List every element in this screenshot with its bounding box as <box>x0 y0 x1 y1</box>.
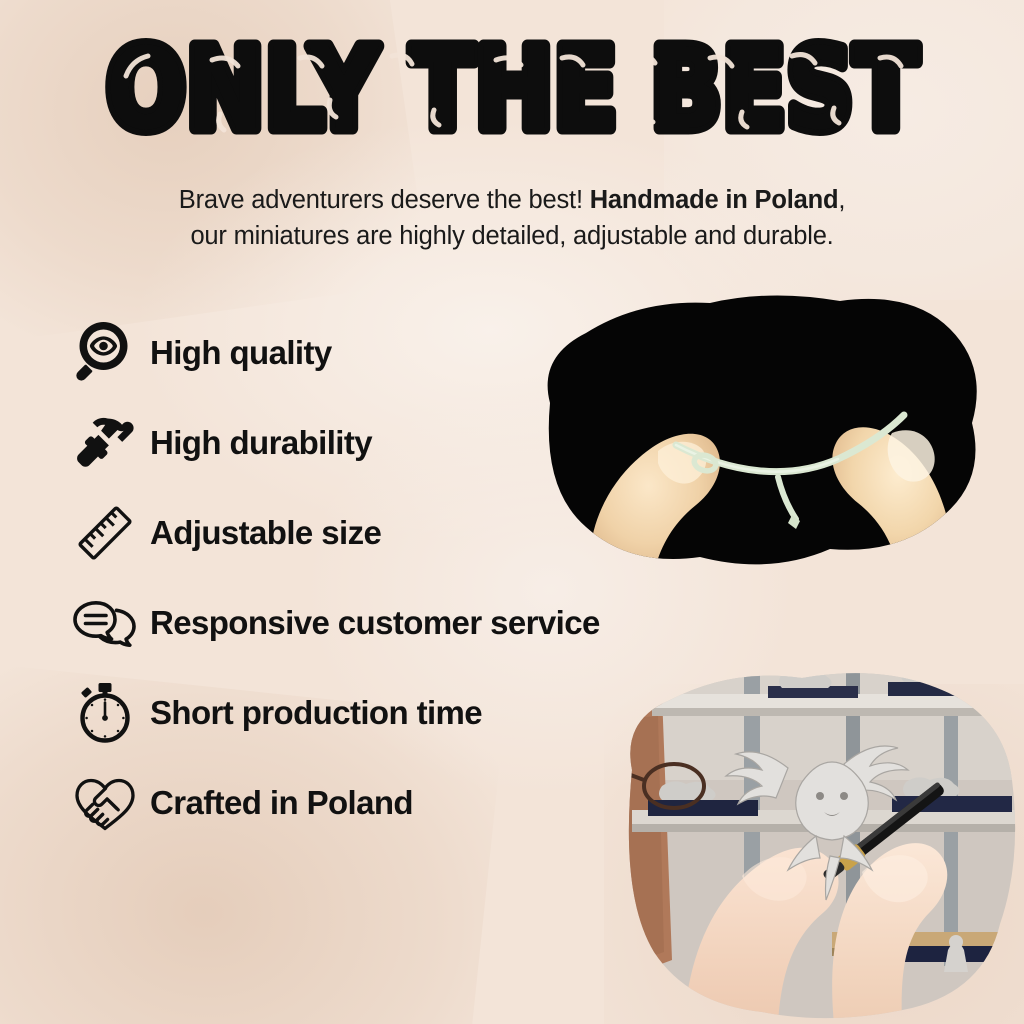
stopwatch-icon <box>62 670 148 756</box>
feature-label: Crafted in Poland <box>150 784 413 822</box>
subtitle-line-1-suffix: , <box>838 186 845 214</box>
feature-label: High quality <box>150 334 332 372</box>
feature-label: Short production time <box>150 694 482 732</box>
speech-bubbles-icon <box>62 580 148 666</box>
subtitle-line-1-prefix: Brave adventurers deserve the best! <box>179 186 590 214</box>
feature-label: High durability <box>150 424 372 462</box>
subtitle-line-2: our miniatures are highly detailed, adju… <box>62 218 962 254</box>
subtitle-line-1: Brave adventurers deserve the best! Hand… <box>62 182 962 218</box>
magnifier-eye-icon <box>62 310 148 396</box>
handshake-heart-icon <box>62 760 148 846</box>
hammer-icon <box>62 400 148 486</box>
promo-graphic: .bub { font-family: "DejaVu Sans", sans-… <box>0 0 1024 1024</box>
durability-photo <box>520 283 1000 588</box>
page-title: .bub { font-family: "DejaVu Sans", sans-… <box>0 36 1024 148</box>
durability-photo-content <box>520 283 1000 588</box>
feature-label: Responsive customer service <box>150 604 600 642</box>
ruler-icon <box>62 490 148 576</box>
workshop-photo-content <box>592 660 1024 1024</box>
workshop-photo <box>592 660 1024 1024</box>
subtitle: Brave adventurers deserve the best! Hand… <box>62 182 962 254</box>
feature-item-customer-service: Responsive customer service <box>62 578 762 668</box>
subtitle-highlight: Handmade in Poland <box>590 186 839 214</box>
feature-label: Adjustable size <box>150 514 381 552</box>
